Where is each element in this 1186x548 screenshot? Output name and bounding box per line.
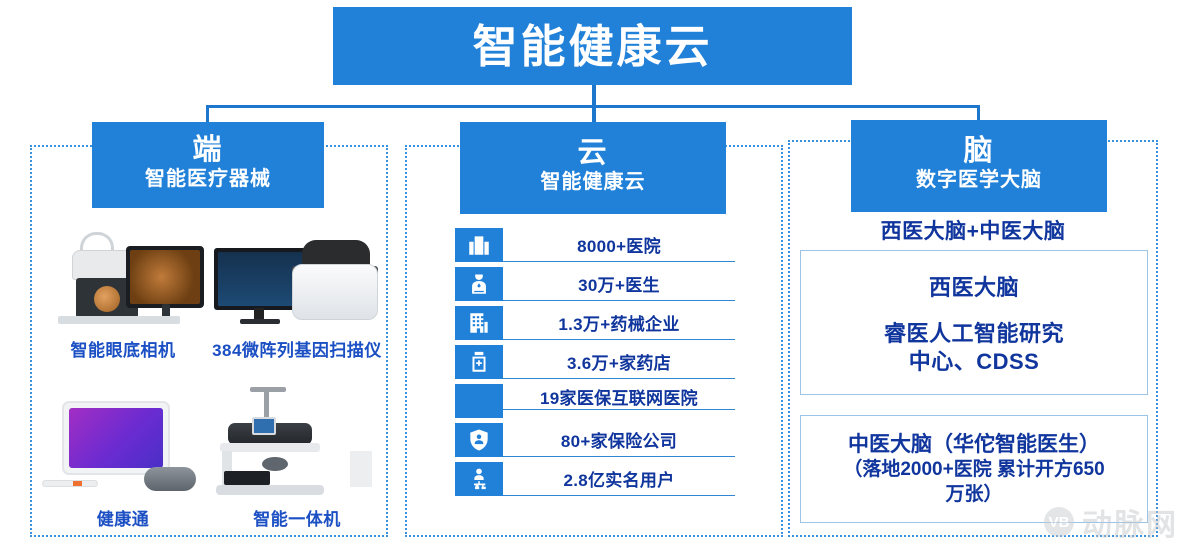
device-caption: 384微阵列基因扫描仪 — [212, 336, 382, 361]
stat-row: 19家医保互联网医院 — [455, 384, 735, 418]
stat-text: 3.6万+家药店 — [503, 345, 735, 379]
infographic-canvas: 智能健康云 端 智能医疗器械 云 智能健康云 脑 数字医学大脑 — [0, 0, 1186, 548]
brain-box-western-title: 西医大脑 — [929, 270, 1019, 302]
brain-box-tcm-line3: 万张） — [945, 483, 1002, 508]
brain-subtitle: 西医大脑+中医大脑 — [800, 215, 1146, 245]
connector-vertical-middle — [592, 105, 595, 123]
column-header-cloud-big: 云 — [577, 138, 608, 169]
blank-icon — [455, 384, 503, 418]
column-header-terminal-small: 智能医疗器械 — [145, 167, 271, 191]
brain-box-western-line1: 睿医人工智能研究 — [884, 320, 1064, 348]
watermark-text: 动脉网 — [1082, 500, 1178, 544]
device-item: 智能眼底相机 — [36, 218, 210, 377]
device-caption: 智能眼底相机 — [71, 336, 176, 361]
stat-row: 2.8亿实名用户 — [455, 462, 735, 496]
watermark-badge: VB — [1044, 507, 1074, 537]
doctor-icon — [455, 267, 503, 301]
gene-scanner-image — [210, 218, 384, 330]
page-title: 智能健康云 — [472, 24, 712, 69]
device-item: 健康通 — [36, 377, 210, 530]
column-header-brain: 脑 数字医学大脑 — [851, 120, 1107, 212]
fundus-camera-image — [36, 218, 210, 330]
stat-text: 80+家保险公司 — [503, 423, 735, 457]
device-item: 智能一体机 — [210, 377, 384, 530]
column-header-cloud: 云 智能健康云 — [460, 122, 726, 214]
column-header-cloud-small: 智能健康云 — [541, 170, 646, 194]
health-tablet-image — [36, 387, 210, 499]
stat-row: 1.3万+药械企业 — [455, 306, 735, 340]
column-header-terminal-big: 端 — [192, 135, 223, 166]
stat-text: 1.3万+药械企业 — [503, 306, 735, 340]
hospital-icon — [455, 228, 503, 262]
device-item: 384微阵列基因扫描仪 — [210, 218, 384, 377]
connector-vertical-left — [206, 105, 209, 123]
column-header-brain-small: 数字医学大脑 — [916, 168, 1042, 192]
stat-text: 19家医保互联网医院 — [503, 384, 735, 410]
column-header-terminal: 端 智能医疗器械 — [92, 122, 324, 208]
stat-row: 30万+医生 — [455, 267, 735, 301]
brain-box-western-line2: 中心、CDSS — [909, 348, 1040, 376]
main-title-banner: 智能健康云 — [333, 7, 852, 85]
stat-text: 2.8亿实名用户 — [503, 462, 735, 496]
shield-user-icon — [455, 423, 503, 457]
smart-kiosk-image — [210, 387, 384, 499]
device-grid: 智能眼底相机 384微阵列基因扫描仪 健康通 — [36, 218, 384, 530]
device-caption: 智能一体机 — [253, 505, 341, 530]
stat-row: 3.6万+家药店 — [455, 345, 735, 379]
brain-box-tcm-line2: （落地2000+医院 累计开方650 — [843, 458, 1104, 483]
building-icon — [455, 306, 503, 340]
stat-list: 8000+医院 30万+医生 1.3万+药械企业 3.6万+家药店 19家医保互… — [455, 228, 735, 501]
stat-text: 8000+医院 — [503, 228, 735, 262]
column-header-brain-big: 脑 — [963, 136, 994, 167]
stat-row: 80+家保险公司 — [455, 423, 735, 457]
medicine-icon — [455, 345, 503, 379]
user-network-icon — [455, 462, 503, 496]
brain-box-tcm-line1: 中医大脑（华佗智能医生） — [848, 431, 1100, 458]
stat-text: 30万+医生 — [503, 267, 735, 301]
stat-row: 8000+医院 — [455, 228, 735, 262]
brain-box-western: 西医大脑 睿医人工智能研究 中心、CDSS — [800, 250, 1148, 395]
watermark: VB 动脉网 — [1044, 500, 1178, 544]
device-caption: 健康通 — [97, 505, 150, 530]
